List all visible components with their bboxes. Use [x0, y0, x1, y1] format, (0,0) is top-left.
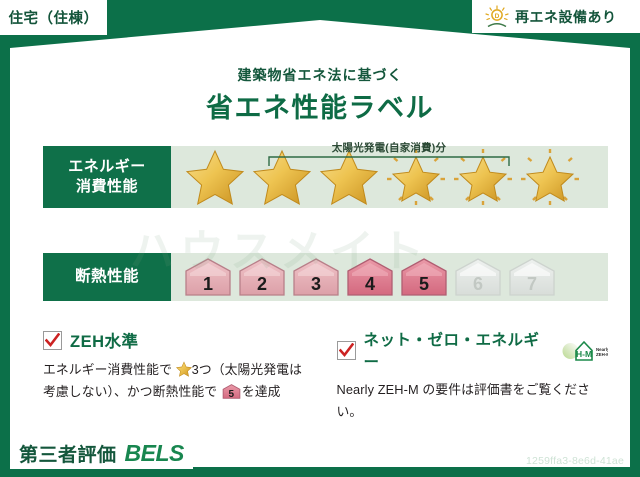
- insulation-level-4: 4: [345, 257, 395, 297]
- checkbox-checked-icon: [337, 341, 356, 360]
- evaluation-date-value: 2025年2月17日: [531, 439, 624, 454]
- criteria-nze-title: ネット・ゼロ・エネルギー: [364, 328, 551, 372]
- criteria-zeh-description: エネルギー消費性能で 3つ（太陽光発電は考慮しない）、かつ断熱性能で 5 を達成: [43, 359, 315, 403]
- insulation-level-5-value: 5: [399, 275, 449, 293]
- third-party-eval-label: 第三者評価: [19, 440, 117, 467]
- criteria-zeh-text-4: を達成: [242, 384, 281, 399]
- energy-label-line-1: エネルギー: [68, 157, 146, 177]
- insulation-level-3-value: 3: [291, 275, 341, 293]
- evaluation-date: 評価日 2025年2月17日: [488, 436, 624, 455]
- svg-text:ZEH-M: ZEH-M: [596, 352, 608, 357]
- evaluation-id: 1259ffa3-8e6d-41ae: [526, 455, 624, 467]
- insulation-level-7: 7: [507, 257, 557, 297]
- card-content: 建築物省エネ法に基づく 省エネ性能ラベル ハウスメイト 太陽光発電(自家消費)分…: [10, 10, 630, 467]
- bels-certification-box: 第三者評価 BELS: [10, 437, 193, 469]
- building-type-tag-label: 住宅（住棟）: [9, 7, 99, 28]
- insulation-level-2: 2: [237, 257, 287, 297]
- solar-annotation-bracket: [268, 155, 510, 166]
- bels-logo-text: BELS: [125, 440, 184, 467]
- page-title: 省エネ性能ラベル: [10, 86, 630, 125]
- criteria-zeh-text-1: エネルギー消費性能で: [43, 362, 172, 377]
- insulation-level-6-value: 6: [453, 275, 503, 293]
- insulation-level-6: 6: [453, 257, 503, 297]
- insulation-level-4-value: 4: [345, 275, 395, 293]
- insulation-label-text: 断熱性能: [75, 267, 139, 288]
- svg-text:D: D: [495, 13, 500, 20]
- inline-star-icon: [176, 361, 192, 377]
- insulation-level-2-value: 2: [237, 275, 287, 293]
- criteria-zeh-title: ZEH水準: [70, 328, 139, 352]
- criteria-zeh-standard: ZEH水準 エネルギー消費性能で 3つ（太陽光発電は考慮しない）、かつ断熱性能で…: [43, 328, 315, 423]
- footer: 第三者評価 BELS ユートリーⅢ 評価日 2025年2月17日 1259ffa…: [0, 431, 640, 477]
- insulation-level-7-value: 7: [507, 275, 557, 293]
- insulation-performance-label: 断熱性能: [43, 253, 171, 301]
- inline-insulation-badge-value: 5: [222, 390, 241, 400]
- insulation-performance-value: 1 2 3: [171, 253, 608, 301]
- insulation-level-5: 5: [399, 257, 449, 297]
- insulation-level-1-value: 1: [183, 275, 233, 293]
- renewable-equipment-badge: D 再エネ設備あり: [472, 0, 640, 33]
- building-name: ユートリーⅢ: [205, 447, 278, 466]
- criteria-nze-description: Nearly ZEH-M の要件は評価書をご覧ください。: [337, 379, 609, 423]
- energy-performance-label: エネルギー 消費性能: [43, 146, 171, 208]
- insulation-level-1: 1: [183, 257, 233, 297]
- criteria-zeh-text-2: 3つ（太陽光発電: [192, 362, 290, 377]
- inline-insulation-badge: 5: [222, 383, 241, 400]
- solar-annotation-label: 太陽光発電(自家消費)分: [264, 140, 514, 155]
- insulation-performance-row: 断熱性能: [43, 253, 608, 301]
- label-subtitle: 建築物省エネ法に基づく: [10, 65, 630, 85]
- svg-text:H-M: H-M: [576, 349, 592, 359]
- star-filled-1: [185, 148, 245, 206]
- building-type-tag: 住宅（住棟）: [0, 0, 107, 35]
- insulation-level-3: 3: [291, 257, 341, 297]
- criteria-zeh-header: ZEH水準: [43, 328, 315, 352]
- criteria-net-zero-energy: ネット・ゼロ・エネルギー H-M: [337, 328, 609, 423]
- insulation-level-scale: 1 2 3: [171, 257, 557, 297]
- zeh-m-logo-icon: H-M Nearly ZEH-M: [560, 337, 608, 363]
- criteria-section: ZEH水準 エネルギー消費性能で 3つ（太陽光発電は考慮しない）、かつ断熱性能で…: [43, 328, 608, 423]
- energy-label-card: 建築物省エネ法に基づく 省エネ性能ラベル ハウスメイト 太陽光発電(自家消費)分…: [10, 10, 630, 467]
- criteria-nze-header: ネット・ゼロ・エネルギー H-M: [337, 328, 609, 372]
- evaluation-date-label: 評価日: [488, 439, 528, 454]
- checkbox-checked-icon: [43, 331, 62, 350]
- solar-sun-icon: D: [484, 5, 510, 29]
- renewable-equipment-label: 再エネ設備あり: [515, 7, 617, 27]
- star-solar-6: [520, 148, 580, 206]
- energy-label-line-2: 消費性能: [76, 177, 138, 197]
